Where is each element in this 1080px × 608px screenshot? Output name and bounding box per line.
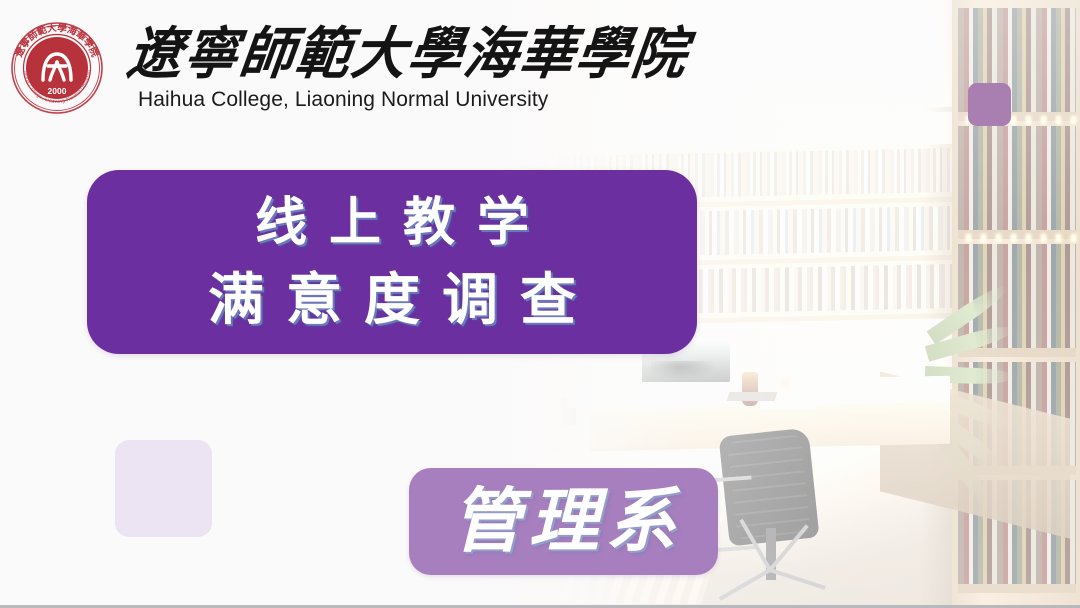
main-title-banner: 线上教学 满意度调查 <box>87 170 697 354</box>
main-title-line-2: 满意度调查 <box>87 270 697 332</box>
decorative-square-lilac <box>115 440 212 537</box>
department-banner: 管理系 <box>409 468 718 575</box>
department-label: 管理系 <box>409 479 718 563</box>
poster-canvas: 2000 遼寧師範大學海華學院 Haihua College, Liaoning… <box>0 0 1080 608</box>
university-name-en: Haihua College, Liaoning Normal Universi… <box>138 88 608 112</box>
decorative-square-purple <box>968 83 1011 126</box>
university-seal: 2000 遼寧師範大學海華學院 Haihua College, Liaoning… <box>8 14 106 118</box>
university-name-cn: 遼寧師範大學海華學院 <box>124 17 613 90</box>
seal-year: 2000 <box>48 86 67 96</box>
university-seal-svg: 2000 遼寧師範大學海華學院 Haihua College, Liaoning… <box>8 14 106 118</box>
main-title-line-1: 线上教学 <box>87 194 697 252</box>
header: 2000 遼寧師範大學海華學院 Haihua College, Liaoning… <box>0 0 640 130</box>
